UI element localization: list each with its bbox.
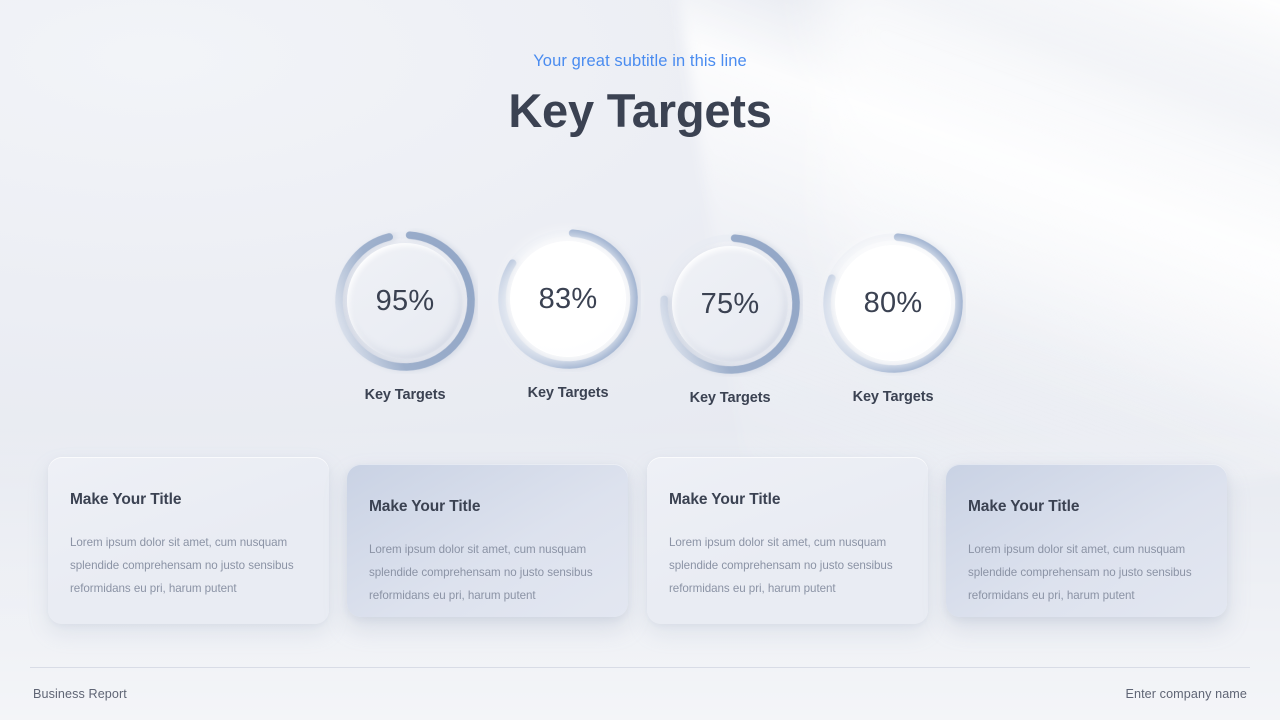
progress-ring-label-2: Key Targets [493, 385, 643, 401]
feature-card-3[interactable]: Make Your TitleLorem ipsum dolor sit ame… [647, 457, 928, 624]
feature-card-title-2: Make Your Title [369, 498, 606, 516]
progress-ring-value-4: 80% [820, 230, 966, 376]
slide-stage: Your great subtitle in this line Key Tar… [0, 0, 1280, 720]
feature-card-title-1: Make Your Title [70, 491, 307, 509]
footer-right-label[interactable]: Enter company name [1125, 687, 1247, 701]
progress-ring-3: 75%Key Targets [655, 231, 805, 406]
feature-card-1[interactable]: Make Your TitleLorem ipsum dolor sit ame… [48, 457, 329, 624]
feature-cards-group: Make Your TitleLorem ipsum dolor sit ame… [0, 450, 1280, 630]
footer-left-label: Business Report [33, 687, 127, 701]
feature-card-body-4: Lorem ipsum dolor sit amet, cum nusquam … [968, 538, 1205, 608]
progress-ring-4: 80%Key Targets [818, 230, 968, 405]
page-title: Key Targets [0, 85, 1280, 138]
progress-ring-value-3: 75% [657, 231, 803, 377]
progress-ring-value-1: 95% [332, 228, 478, 374]
slide-footer: Business Report Enter company name [30, 667, 1250, 720]
feature-card-body-3: Lorem ipsum dolor sit amet, cum nusquam … [669, 531, 906, 601]
progress-ring-label-3: Key Targets [655, 390, 805, 406]
progress-ring-label-4: Key Targets [818, 389, 968, 405]
feature-card-body-2: Lorem ipsum dolor sit amet, cum nusquam … [369, 538, 606, 608]
progress-ring-2: 83%Key Targets [493, 226, 643, 401]
progress-ring-value-2: 83% [495, 226, 641, 372]
progress-ring-1: 95%Key Targets [330, 228, 480, 403]
progress-ring-wrap-1: 95% [332, 228, 478, 374]
feature-card-body-1: Lorem ipsum dolor sit amet, cum nusquam … [70, 531, 307, 601]
progress-ring-label-1: Key Targets [330, 387, 480, 403]
feature-card-title-3: Make Your Title [669, 491, 906, 509]
progress-rings-group: 95%Key Targets83%Key Targets75%Key Targe… [330, 228, 980, 418]
progress-ring-wrap-3: 75% [657, 231, 803, 377]
progress-ring-wrap-2: 83% [495, 226, 641, 372]
slide-subtitle: Your great subtitle in this line [0, 52, 1280, 72]
progress-ring-wrap-4: 80% [820, 230, 966, 376]
feature-card-4[interactable]: Make Your TitleLorem ipsum dolor sit ame… [946, 464, 1227, 617]
slide-header: Your great subtitle in this line Key Tar… [0, 52, 1280, 137]
feature-card-title-4: Make Your Title [968, 498, 1205, 516]
feature-card-2[interactable]: Make Your TitleLorem ipsum dolor sit ame… [347, 464, 628, 617]
